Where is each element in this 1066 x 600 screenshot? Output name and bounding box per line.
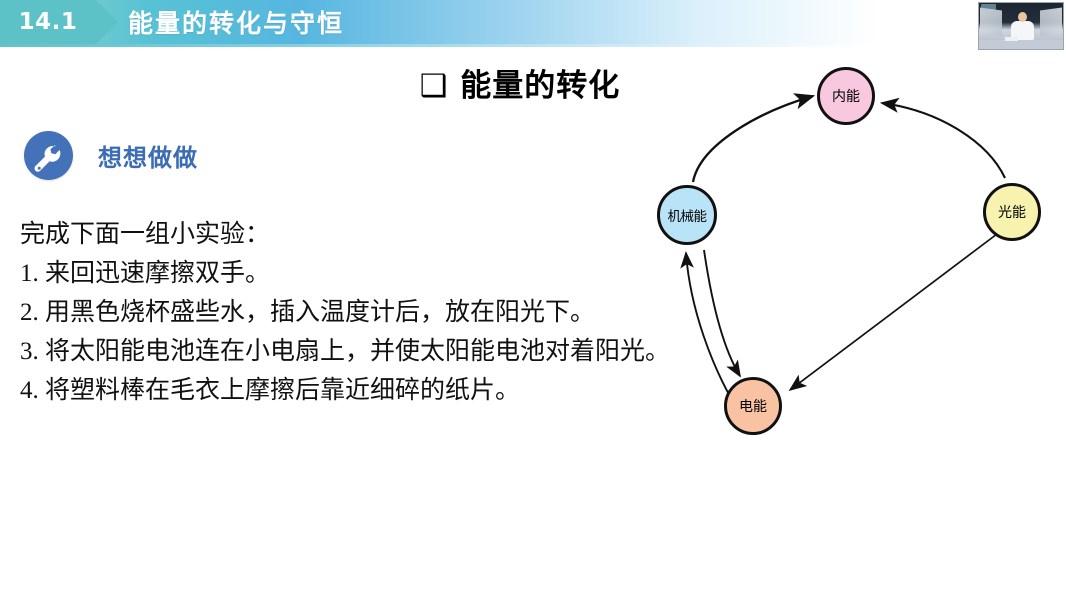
wrench-icon [24, 131, 73, 180]
header-underline [0, 44, 1066, 47]
node-mechanical-energy[interactable]: 机械能 [657, 185, 717, 245]
node-electrical-energy[interactable]: 电能 [724, 377, 782, 435]
studio-panel-right [1040, 7, 1062, 36]
node-internal-energy[interactable]: 内能 [817, 67, 875, 125]
activity-heading: 想想做做 [24, 131, 198, 180]
node-internal-energy-label: 内能 [832, 86, 860, 106]
energy-conversion-diagram: 内能 机械能 光能 电能 [620, 50, 1066, 470]
arrow-mechanical-to-electrical [704, 250, 740, 376]
chapter-title: 能量的转化与守恒 [128, 0, 344, 44]
chapter-number-badge: 14.1 [0, 0, 96, 44]
arrow-light-to-electrical [790, 234, 997, 390]
arrow-light-to-internal [882, 103, 1005, 178]
chapter-number: 14.1 [19, 11, 78, 34]
activity-label: 想想做做 [98, 138, 198, 173]
desk-book [1005, 37, 1018, 41]
teacher-video-thumbnail[interactable] [978, 2, 1064, 50]
node-light-energy[interactable]: 光能 [983, 183, 1041, 241]
node-electrical-energy-label: 电能 [739, 396, 767, 416]
node-light-energy-label: 光能 [998, 202, 1026, 222]
chapter-badge-chevron-icon [96, 0, 118, 44]
studio-panel-left [980, 7, 1002, 36]
page-title-text: ❑ 能量的转化 [420, 60, 621, 105]
channel-logo-icon [981, 4, 996, 10]
teacher-head [1018, 12, 1027, 22]
arrow-mechanical-to-internal [693, 96, 813, 182]
node-mechanical-energy-label: 机械能 [668, 205, 707, 225]
studio-desk [979, 40, 1063, 49]
